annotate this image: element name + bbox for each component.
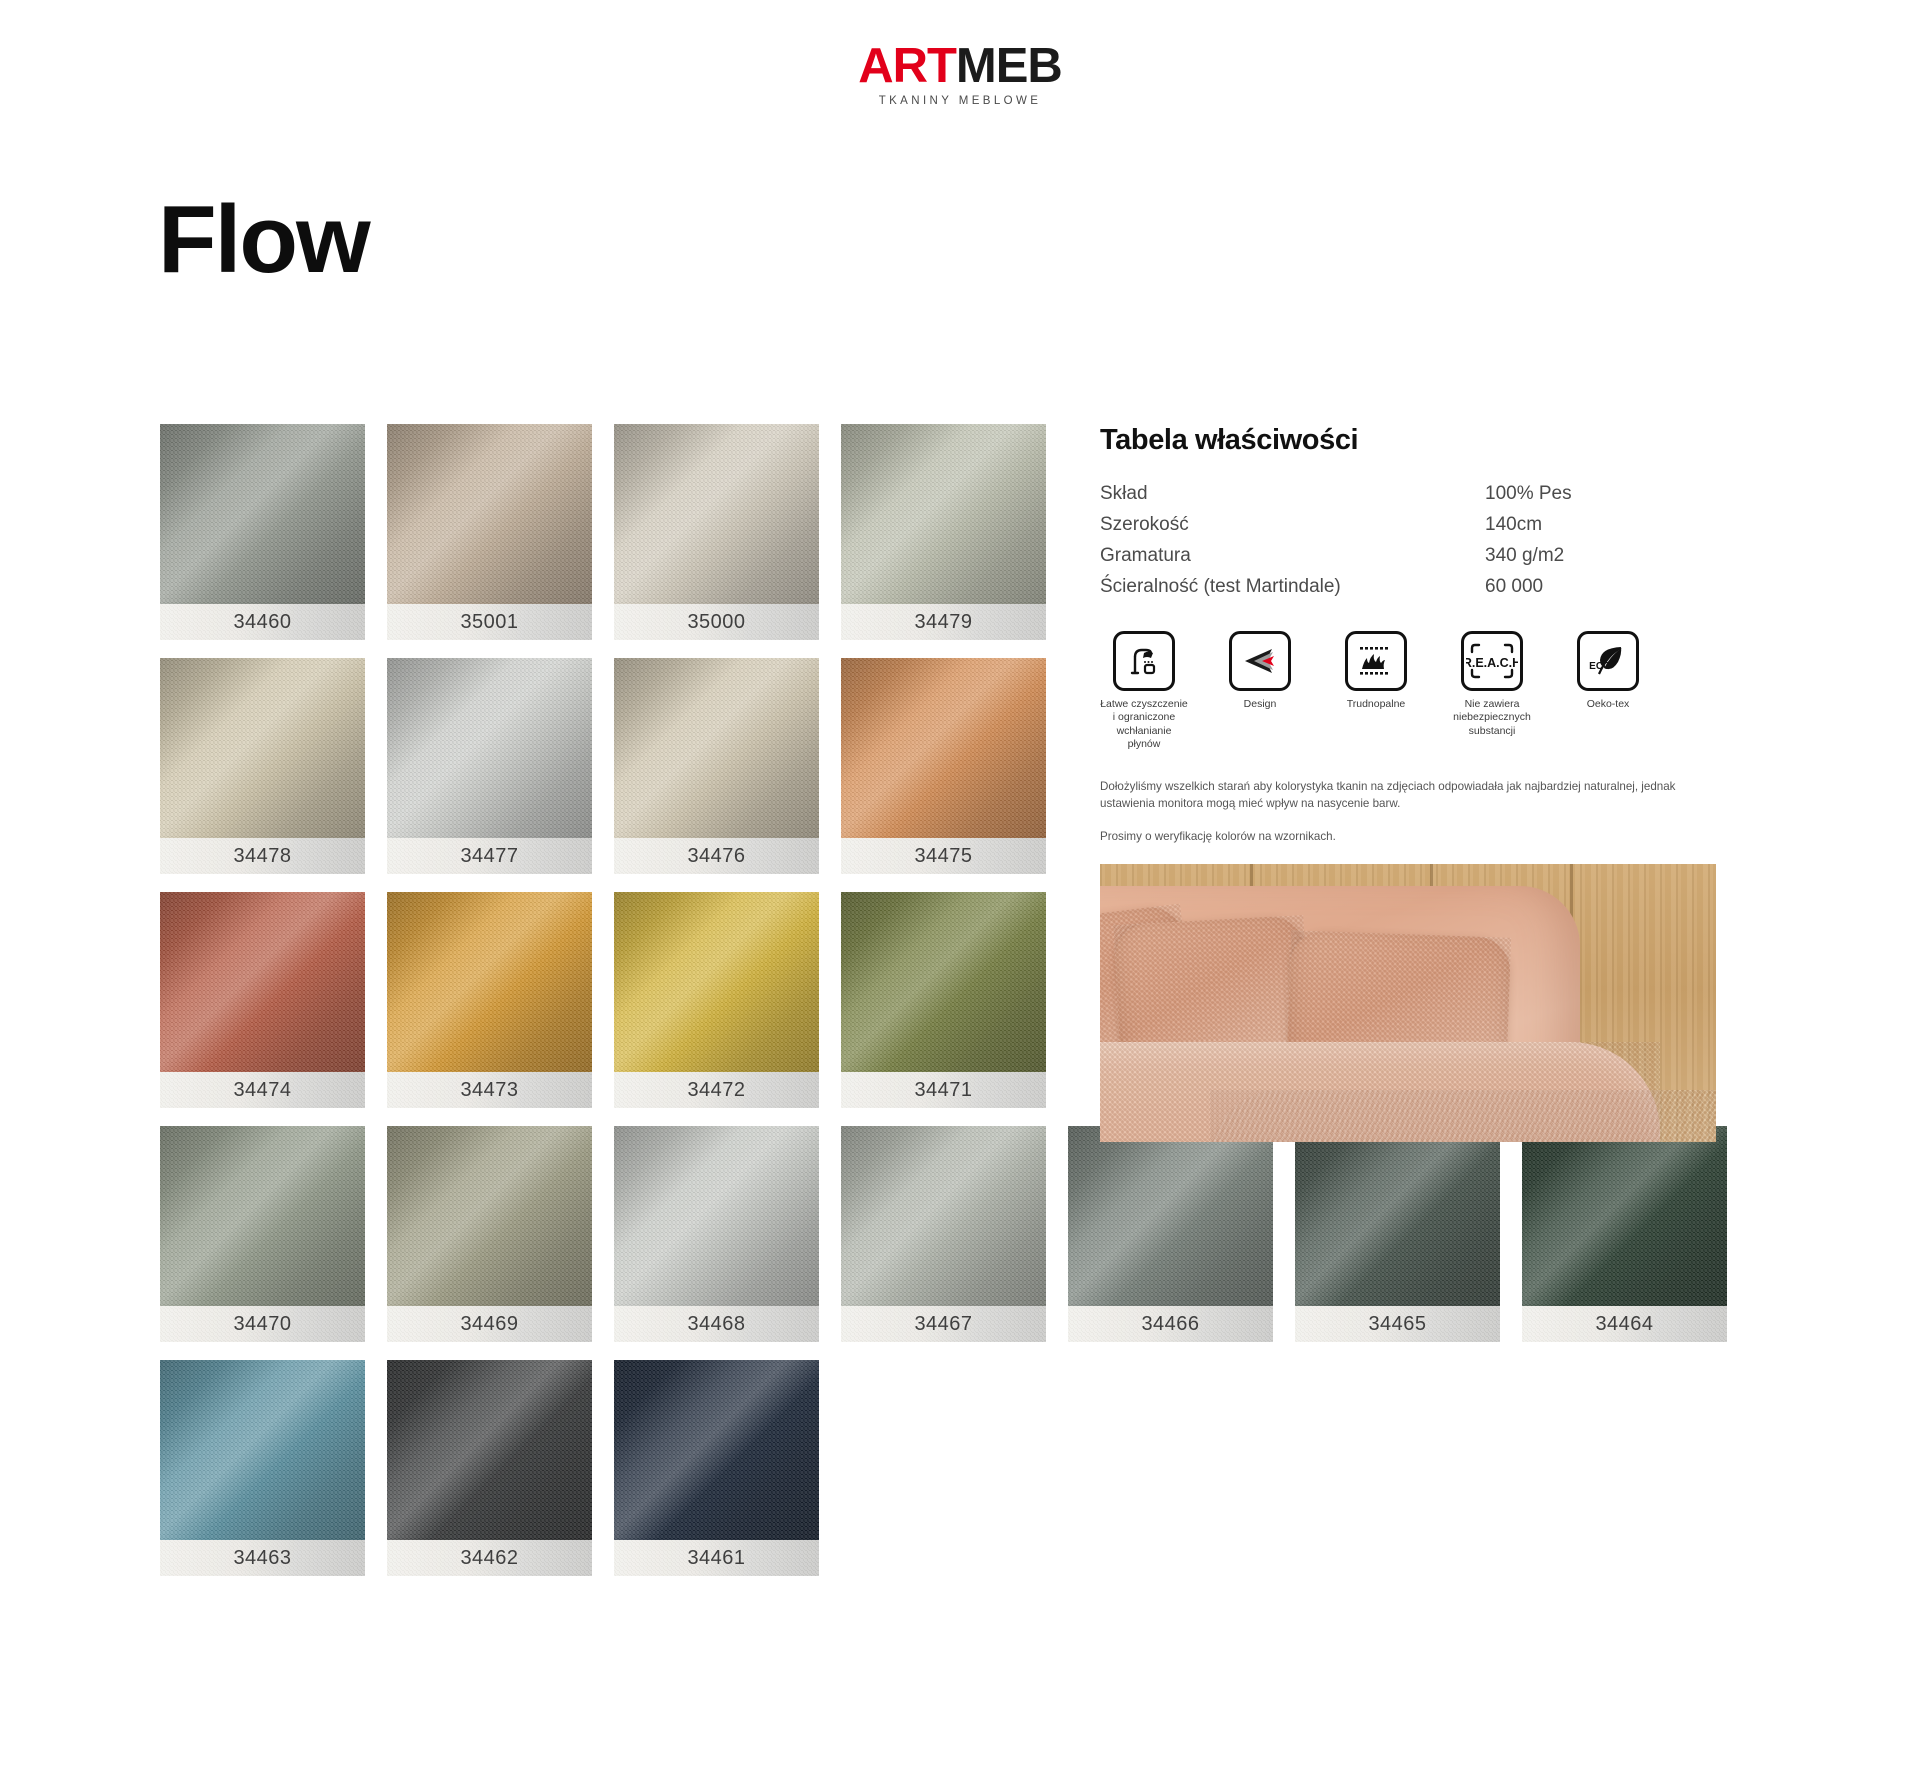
properties-table-body: Skład100% PesSzerokość140cmGramatura340 … [1100, 479, 1720, 603]
fabric-swatch-image [160, 892, 365, 1072]
certification-easy-clean: Łatwe czyszczenie i ograniczone wchłania… [1100, 631, 1188, 752]
fabric-swatch-label: 34466 [1068, 1306, 1273, 1342]
fabric-swatch-code: 35000 [687, 611, 745, 633]
certification-caption: Design [1216, 698, 1304, 711]
fabric-swatch-image [160, 424, 365, 604]
product-photo [1100, 864, 1716, 1142]
fabric-swatch-34477[interactable]: 34477 [387, 658, 592, 874]
disclaimer-paragraph-2: Prosimy o weryfikację kolorów na wzornik… [1100, 828, 1712, 845]
fabric-swatch-image [160, 1126, 365, 1306]
sofa-seat-front [1210, 1090, 1716, 1142]
fabric-swatch-image [387, 1126, 592, 1306]
svg-text:ECO: ECO [1589, 661, 1611, 672]
certification-caption: Nie zawiera niebezpiecznych substancji [1448, 698, 1536, 738]
property-row: Szerokość140cm [1100, 510, 1720, 541]
fabric-swatch-34469[interactable]: 34469 [387, 1126, 592, 1342]
fabric-swatch-label: 34478 [160, 838, 365, 874]
fabric-swatch-code: 34472 [687, 1079, 745, 1101]
fabric-swatch-34461[interactable]: 34461 [614, 1360, 819, 1576]
fabric-swatch-code: 34469 [460, 1313, 518, 1335]
svg-text:R.E.A.C.H: R.E.A.C.H [1466, 656, 1518, 670]
brand-tagline: TKANINY MEBLOWE [0, 95, 1920, 107]
fabric-swatch-34470[interactable]: 34470 [160, 1126, 365, 1342]
fabric-swatch-34473[interactable]: 34473 [387, 892, 592, 1108]
fabric-swatch-label: 34464 [1522, 1306, 1727, 1342]
fabric-swatch-label: 34472 [614, 1072, 819, 1108]
fabric-swatch-label: 34477 [387, 838, 592, 874]
design-icon [1229, 631, 1291, 691]
fabric-swatch-34462[interactable]: 34462 [387, 1360, 592, 1576]
fabric-swatch-label: 34461 [614, 1540, 819, 1576]
fabric-swatch-code: 34466 [1141, 1313, 1199, 1335]
fabric-swatch-code: 34462 [460, 1547, 518, 1569]
fabric-swatch-code: 35001 [460, 611, 518, 633]
flame-retardant-icon [1345, 631, 1407, 691]
fabric-swatch-image [614, 424, 819, 604]
fabric-swatch-label: 34462 [387, 1540, 592, 1576]
fabric-swatch-34478[interactable]: 34478 [160, 658, 365, 874]
fabric-swatch-code: 34473 [460, 1079, 518, 1101]
property-row: Ścieralność (test Martindale)60 000 [1100, 572, 1720, 603]
certification-design: Design [1216, 631, 1304, 752]
fabric-swatch-code: 34475 [914, 845, 972, 867]
fabric-swatch-image [387, 892, 592, 1072]
property-value: 60 000 [1485, 572, 1720, 603]
fabric-swatch-35001[interactable]: 35001 [387, 424, 592, 640]
disclaimer-paragraph-1: Dołożyliśmy wszelkich starań aby kolorys… [1100, 778, 1712, 813]
swatch-row: 34478344773447634475 [160, 658, 1040, 874]
fabric-swatch-image [614, 892, 819, 1072]
fabric-swatch-image [387, 658, 592, 838]
fabric-swatch-image [841, 658, 1046, 838]
fabric-swatch-image [387, 424, 592, 604]
fabric-swatch-34475[interactable]: 34475 [841, 658, 1046, 874]
fabric-swatch-label: 34469 [387, 1306, 592, 1342]
fabric-swatch-image [1522, 1126, 1727, 1306]
fabric-swatch-34465[interactable]: 34465 [1295, 1126, 1500, 1342]
certification-eco-leaf: ECOOeko-tex [1564, 631, 1652, 752]
fabric-swatch-label: 34474 [160, 1072, 365, 1108]
fabric-swatch-code: 34468 [687, 1313, 745, 1335]
fabric-swatch-image [841, 424, 1046, 604]
fabric-swatch-34468[interactable]: 34468 [614, 1126, 819, 1342]
catalog-page: ARTMEB TKANINY MEBLOWE Flow 344603500135… [0, 0, 1920, 1768]
fabric-swatch-34460[interactable]: 34460 [160, 424, 365, 640]
fabric-swatch-code: 34474 [233, 1079, 291, 1101]
fabric-swatch-image [614, 1126, 819, 1306]
properties-panel: Tabela właściwości Skład100% PesSzerokoś… [1100, 424, 1720, 1142]
fabric-swatch-image [614, 1360, 819, 1540]
certification-caption: Trudnopalne [1332, 698, 1420, 711]
fabric-swatch-label: 34460 [160, 604, 365, 640]
certification-reach: R.E.A.C.HNie zawiera niebezpiecznych sub… [1448, 631, 1536, 752]
disclaimer-text: Dołożyliśmy wszelkich starań aby kolorys… [1100, 778, 1712, 846]
certification-caption: Łatwe czyszczenie i ograniczone wchłania… [1100, 698, 1188, 752]
fabric-swatch-image [160, 1360, 365, 1540]
page-title: Flow [158, 192, 369, 288]
certification-caption: Oeko-tex [1564, 698, 1652, 711]
fabric-swatch-label: 35000 [614, 604, 819, 640]
fabric-swatch-image [1295, 1126, 1500, 1306]
fabric-swatch-code: 34471 [914, 1079, 972, 1101]
fabric-swatch-label: 34475 [841, 838, 1046, 874]
fabric-swatch-label: 34471 [841, 1072, 1046, 1108]
fabric-swatch-code: 34476 [687, 845, 745, 867]
fabric-swatch-label: 34465 [1295, 1306, 1500, 1342]
property-label: Szerokość [1100, 510, 1485, 541]
eco-leaf-icon: ECO [1577, 631, 1639, 691]
fabric-swatch-image [841, 892, 1046, 1072]
property-row: Gramatura340 g/m2 [1100, 541, 1720, 572]
fabric-swatch-label: 34476 [614, 838, 819, 874]
brand-logo: ARTMEB TKANINY MEBLOWE [0, 42, 1920, 107]
fabric-swatch-code: 34479 [914, 611, 972, 633]
fabric-swatch-code: 34470 [233, 1313, 291, 1335]
fabric-swatch-code: 34464 [1595, 1313, 1653, 1335]
swatch-row: 34470344693446834467344663446534464 [160, 1126, 1040, 1342]
fabric-swatch-label: 34479 [841, 604, 1046, 640]
fabric-swatch-34476[interactable]: 34476 [614, 658, 819, 874]
certification-flame-retardant: Trudnopalne [1332, 631, 1420, 752]
property-row: Skład100% Pes [1100, 479, 1720, 510]
fabric-swatch-image [841, 1126, 1046, 1306]
fabric-swatch-code: 34478 [233, 845, 291, 867]
fabric-swatch-label: 34470 [160, 1306, 365, 1342]
fabric-swatch-code: 34463 [233, 1547, 291, 1569]
brand-name-meb: MEB [956, 39, 1062, 93]
certification-icons: Łatwe czyszczenie i ograniczone wchłania… [1100, 631, 1720, 752]
property-value: 100% Pes [1485, 479, 1720, 510]
fabric-swatch-code: 34461 [687, 1547, 745, 1569]
property-value: 340 g/m2 [1485, 541, 1720, 572]
swatch-row: 34460350013500034479 [160, 424, 1040, 640]
fabric-swatch-image [387, 1360, 592, 1540]
swatch-row: 344633446234461 [160, 1360, 1040, 1576]
fabric-swatch-35000[interactable]: 35000 [614, 424, 819, 640]
property-label: Skład [1100, 479, 1485, 510]
fabric-swatch-34467[interactable]: 34467 [841, 1126, 1046, 1342]
fabric-swatch-label: 34473 [387, 1072, 592, 1108]
fabric-swatch-grid: 3446035001350003447934478344773447634475… [160, 424, 1040, 1594]
property-value: 140cm [1485, 510, 1720, 541]
fabric-swatch-label: 34467 [841, 1306, 1046, 1342]
properties-table: Skład100% PesSzerokość140cmGramatura340 … [1100, 479, 1720, 603]
properties-heading: Tabela właściwości [1100, 424, 1720, 457]
swatch-row: 34474344733447234471 [160, 892, 1040, 1108]
fabric-swatch-image [614, 658, 819, 838]
fabric-swatch-label: 35001 [387, 604, 592, 640]
brand-wordmark: ARTMEB [0, 42, 1920, 91]
property-label: Gramatura [1100, 541, 1485, 572]
fabric-swatch-code: 34460 [233, 611, 291, 633]
fabric-swatch-image [160, 658, 365, 838]
reach-icon: R.E.A.C.H [1461, 631, 1523, 691]
fabric-swatch-34472[interactable]: 34472 [614, 892, 819, 1108]
brand-name-art: ART [858, 39, 956, 93]
fabric-swatch-34466[interactable]: 34466 [1068, 1126, 1273, 1342]
fabric-swatch-code: 34467 [914, 1313, 972, 1335]
fabric-swatch-image [1068, 1126, 1273, 1306]
fabric-swatch-code: 34477 [460, 845, 518, 867]
fabric-swatch-34464[interactable]: 34464 [1522, 1126, 1727, 1342]
fabric-swatch-label: 34463 [160, 1540, 365, 1576]
fabric-swatch-34471[interactable]: 34471 [841, 892, 1046, 1108]
easy-clean-icon [1113, 631, 1175, 691]
fabric-swatch-34474[interactable]: 34474 [160, 892, 365, 1108]
fabric-swatch-34479[interactable]: 34479 [841, 424, 1046, 640]
property-label: Ścieralność (test Martindale) [1100, 572, 1485, 603]
fabric-swatch-code: 34465 [1368, 1313, 1426, 1335]
fabric-swatch-34463[interactable]: 34463 [160, 1360, 365, 1576]
fabric-swatch-label: 34468 [614, 1306, 819, 1342]
